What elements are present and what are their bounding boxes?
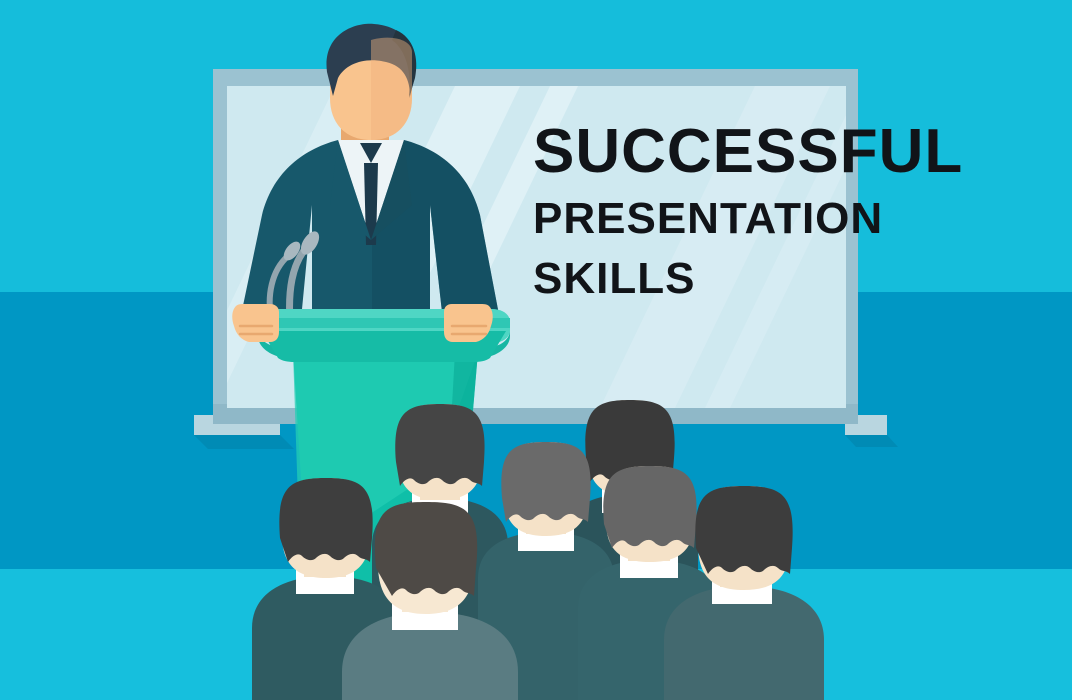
audience-hair-5	[603, 466, 696, 548]
slide-line-2: PRESENTATION	[533, 194, 883, 243]
presentation-illustration: SUCCESSFUL PRESENTATION SKILLS	[0, 0, 1072, 700]
audience-hair-6	[375, 502, 477, 596]
audience-hair-2	[395, 404, 484, 486]
audience-hair-7	[695, 486, 792, 574]
slide-line-3: SKILLS	[533, 254, 695, 303]
audience-hair-1	[279, 478, 372, 562]
screen-left-foot-shadow	[194, 435, 294, 449]
slide-line-1: SUCCESSFUL	[533, 117, 963, 186]
illustration-canvas: SUCCESSFUL PRESENTATION SKILLS	[0, 0, 1072, 700]
speaker-right-hand	[444, 304, 493, 342]
audience-hair-3	[501, 442, 590, 522]
